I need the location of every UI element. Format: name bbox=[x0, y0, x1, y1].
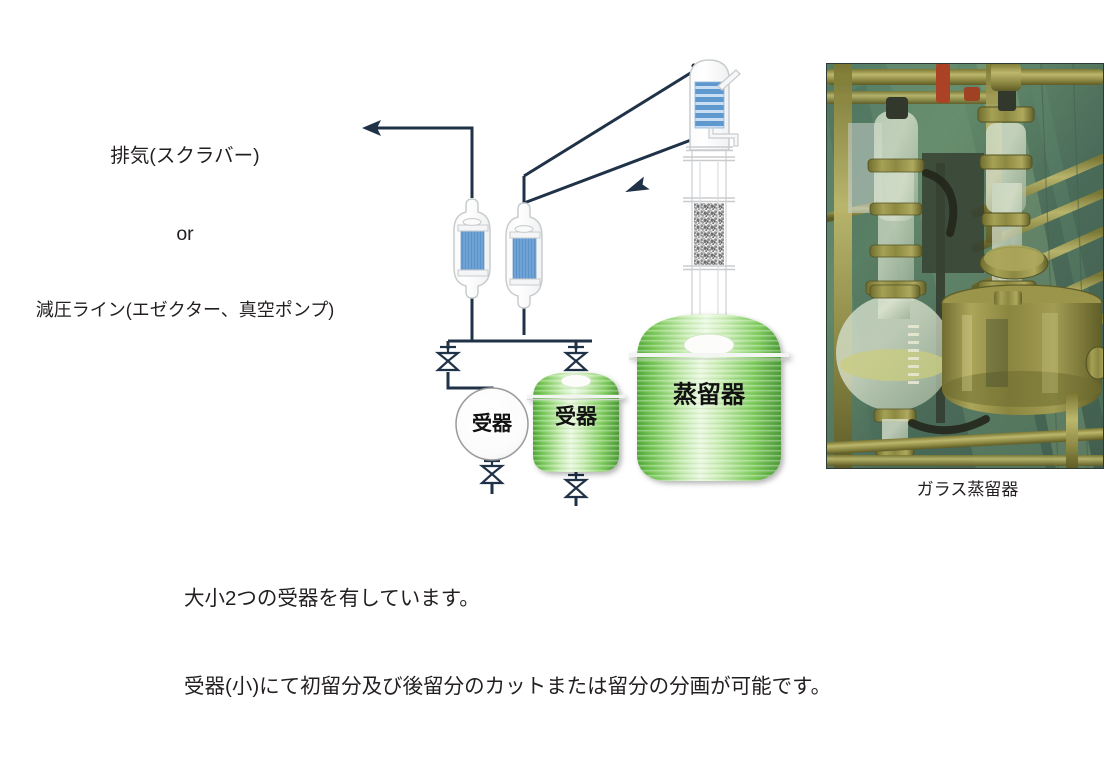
valve-receiver-drain bbox=[566, 475, 586, 497]
reflux-condenser bbox=[686, 60, 740, 151]
diagram-stage: 受器 受器 bbox=[0, 0, 1120, 592]
vent-header-pipe bbox=[370, 128, 472, 198]
valve-flask-drain bbox=[482, 461, 502, 483]
condenser-right-jacket bbox=[513, 238, 536, 280]
condenser-right bbox=[506, 203, 542, 308]
still-vessel-label: 蒸留器 bbox=[673, 382, 746, 409]
column-packing bbox=[694, 203, 724, 265]
vent-label-line2: or bbox=[0, 222, 370, 248]
condenser-right-port-lower bbox=[510, 279, 540, 285]
valve-header-right bbox=[566, 347, 586, 370]
bottom-note-line1: 大小2つの受器を有しています。 bbox=[184, 584, 1064, 613]
vapour-arrow-head bbox=[622, 176, 649, 198]
vapour-line-upper bbox=[524, 69, 697, 176]
vent-line-label: 排気(スクラバー) or 減圧ライン(エゼクター、真空ポンプ) bbox=[0, 93, 370, 374]
condenser-left-jacket bbox=[461, 231, 484, 271]
vent-label-line3: 減圧ライン(エゼクター、真空ポンプ) bbox=[0, 299, 370, 323]
condenser-left-port-lower bbox=[458, 270, 488, 276]
bottom-note-line2: 受器(小)にて初留分及び後留分のカットまたは留分の分画が可能です。 bbox=[184, 672, 1064, 701]
valve-header-left bbox=[438, 347, 458, 370]
condenser-left bbox=[454, 199, 490, 298]
vent-label-line1: 排気(スクラバー) bbox=[0, 144, 370, 170]
photo-caption: ガラス蒸留器 bbox=[830, 479, 1105, 501]
photo-content bbox=[826, 63, 1104, 469]
receiver-manhole bbox=[561, 375, 591, 388]
reflux-coil bbox=[695, 82, 724, 128]
glass-distillation-photo bbox=[826, 63, 1104, 469]
receiver-vessel-label: 受器 bbox=[555, 405, 598, 429]
bottom-note: 大小2つの受器を有しています。 受器(小)にて初留分及び後留分のカットまたは留分… bbox=[184, 526, 1064, 759]
vapour-line-lower bbox=[524, 134, 707, 203]
receiver-flask-label: 受器 bbox=[472, 411, 513, 435]
still-manhole bbox=[684, 334, 734, 356]
